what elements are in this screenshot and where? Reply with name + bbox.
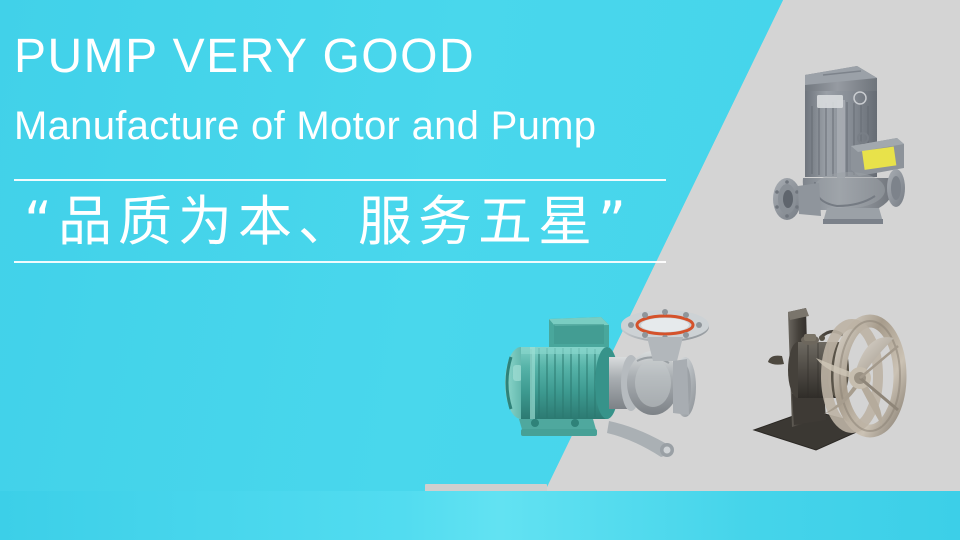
product-image-submersible-mixer: [752, 298, 932, 463]
bottom-accent-bar: [0, 491, 960, 540]
divider-line-top: [14, 179, 666, 181]
slogan-text: “品质为本、服务五星”: [24, 195, 714, 249]
page-title: PUMP VERY GOOD: [14, 33, 714, 81]
divider-line-bottom: [14, 261, 666, 263]
slogan-group: “品质为本、服务五星”: [14, 181, 714, 261]
promo-banner: PUMP VERY GOOD Manufacture of Motor and …: [0, 0, 960, 540]
product-image-vertical-inline-pump: [765, 48, 920, 233]
page-subtitle: Manufacture of Motor and Pump: [14, 106, 714, 146]
product-image-horizontal-centrifugal-pump: [497, 305, 717, 465]
headline-group: PUMP VERY GOOD Manufacture of Motor and …: [14, 0, 714, 263]
